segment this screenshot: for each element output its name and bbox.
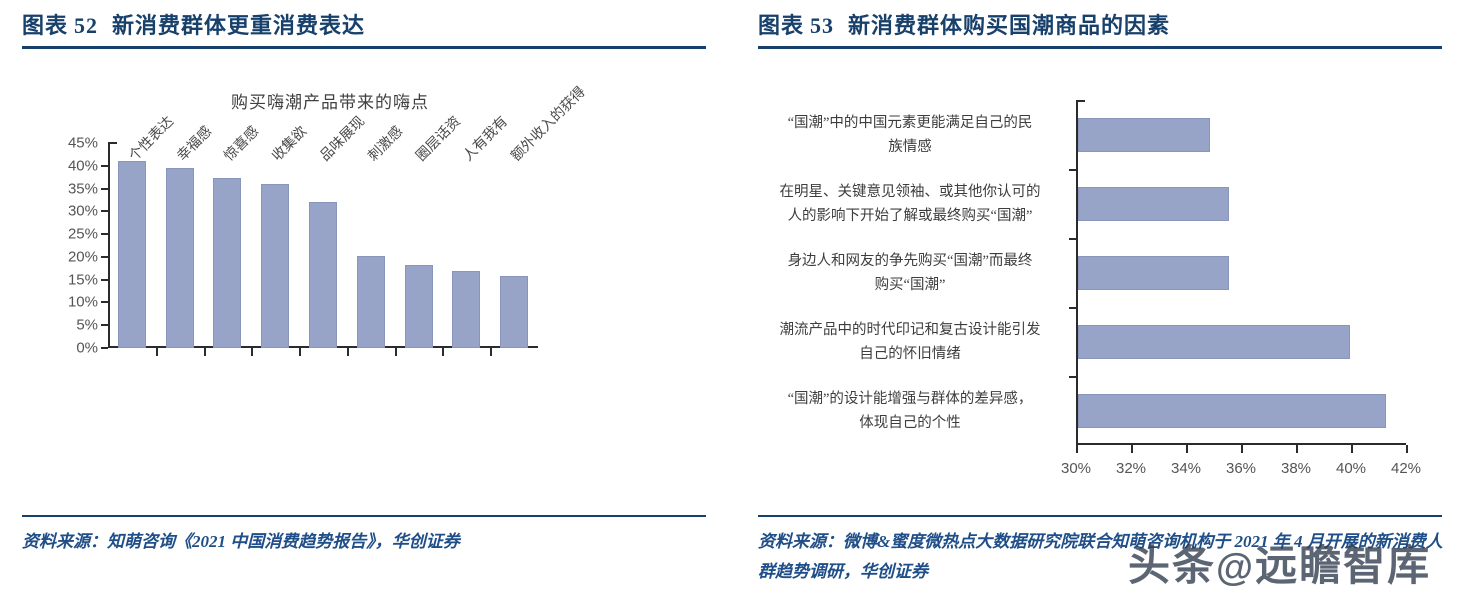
bar-row-4 bbox=[1078, 325, 1350, 359]
x-axis-tick-label-right: 30% bbox=[1061, 460, 1091, 477]
x-tick-mark-right bbox=[1131, 445, 1133, 453]
y-axis-tick-label: 5% bbox=[76, 317, 98, 334]
x-tick-mark bbox=[490, 348, 492, 356]
x-tick-mark-right bbox=[1076, 445, 1078, 453]
y-tick-mark bbox=[101, 165, 108, 167]
x-label-3: 惊喜感 bbox=[219, 121, 263, 165]
y-axis-line bbox=[108, 143, 110, 348]
bar-row-1 bbox=[1078, 118, 1210, 152]
y-tick-mark bbox=[101, 210, 108, 212]
y-axis-tick-label: 45% bbox=[68, 135, 98, 152]
figure-53-title-text: 新消费群体购买国潮商品的因素 bbox=[848, 13, 1170, 38]
y-axis-tick-label: 10% bbox=[68, 294, 98, 311]
y-tick-mark-right bbox=[1069, 238, 1076, 240]
x-axis-tick-label-right: 34% bbox=[1171, 460, 1201, 477]
category-label-3: 身边人和网友的争先购买“国潮”而最终购买“国潮” bbox=[760, 249, 1060, 297]
y-tick-mark bbox=[108, 142, 117, 144]
figure-52-title-line: 图表52新消费群体更重消费表达 bbox=[22, 8, 706, 40]
figure-52-number: 52 bbox=[74, 13, 98, 38]
category-label-4: 潮流产品中的时代印记和复古设计能引发自己的怀旧情绪 bbox=[760, 318, 1060, 366]
category-label-line: 体现自己的个性 bbox=[760, 411, 1060, 435]
x-label-2: 幸福感 bbox=[172, 121, 216, 165]
bar-8 bbox=[452, 271, 480, 348]
x-tick-mark-right bbox=[1296, 445, 1298, 453]
x-tick-mark-right bbox=[1186, 445, 1188, 453]
bar-1 bbox=[118, 161, 146, 348]
y-axis-cap-right bbox=[1076, 100, 1085, 102]
category-label-line: 购买“国潮” bbox=[760, 273, 1060, 297]
x-tick-mark bbox=[251, 348, 253, 356]
figure-52-source: 资料来源：知萌咨询《2021 中国消费趋势报告》，华创证券 bbox=[22, 527, 722, 557]
y-axis-tick-label: 40% bbox=[68, 157, 98, 174]
bar-row-3 bbox=[1078, 256, 1229, 290]
figure-53-rule bbox=[758, 46, 1442, 49]
figure-53-label: 图表 bbox=[758, 13, 804, 38]
y-axis-tick-label: 0% bbox=[76, 340, 98, 357]
figure-panel-53: 图表53新消费群体购买国潮商品的因素 “国潮”中的中国元素更能满足自己的民族情感… bbox=[736, 0, 1462, 594]
bar-6 bbox=[357, 256, 385, 348]
category-label-line: 人的影响下开始了解或最终购买“国潮” bbox=[760, 204, 1060, 228]
x-axis-tick-label-right: 38% bbox=[1281, 460, 1311, 477]
x-label-4: 收集欲 bbox=[267, 121, 311, 165]
y-axis-tick-label: 30% bbox=[68, 203, 98, 220]
category-label-line: “国潮”中的中国元素更能满足自己的民 bbox=[760, 111, 1060, 135]
x-tick-mark-right bbox=[1406, 445, 1408, 453]
x-tick-mark bbox=[395, 348, 397, 356]
y-tick-mark-right bbox=[1069, 307, 1076, 309]
bar-chart-guochao-factors: “国潮”中的中国元素更能满足自己的民族情感在明星、关键意见领袖、或其他你认可的人… bbox=[736, 80, 1462, 500]
y-tick-mark bbox=[101, 347, 108, 349]
plot-area-right: “国潮”中的中国元素更能满足自己的民族情感在明星、关键意见领袖、或其他你认可的人… bbox=[1076, 100, 1406, 445]
figure-52-header: 图表52新消费群体更重消费表达 bbox=[22, 8, 706, 49]
plot-area-left: 0%5%10%15%20%25%30%35%40%45% 个性表达幸福感惊喜感收… bbox=[108, 143, 538, 348]
category-label-line: 身边人和网友的争先购买“国潮”而最终 bbox=[760, 249, 1060, 273]
y-tick-mark bbox=[101, 324, 108, 326]
y-tick-mark bbox=[101, 301, 108, 303]
x-axis-tick-label-right: 36% bbox=[1226, 460, 1256, 477]
figure-52-source-rule bbox=[22, 515, 706, 517]
x-label-8: 人有我有 bbox=[458, 111, 512, 165]
x-label-5: 品味展现 bbox=[315, 111, 369, 165]
y-axis-tick-label: 20% bbox=[68, 248, 98, 265]
x-label-1: 个性表达 bbox=[124, 111, 178, 165]
figure-panel-52: 图表52新消费群体更重消费表达 购买嗨潮产品带来的嗨点 0%5%10%15%20… bbox=[0, 0, 726, 594]
x-tick-mark bbox=[204, 348, 206, 356]
y-axis-tick-label: 25% bbox=[68, 226, 98, 243]
category-label-line: 自己的怀旧情绪 bbox=[760, 342, 1060, 366]
figure-53-number: 53 bbox=[810, 13, 834, 38]
category-label-5: “国潮”的设计能增强与群体的差异感，体现自己的个性 bbox=[760, 387, 1060, 435]
figure-52-title-text: 新消费群体更重消费表达 bbox=[112, 13, 365, 38]
y-axis-tick-label: 15% bbox=[68, 271, 98, 288]
figure-53-source: 资料来源：微博&蜜度微热点大数据研究院联合知萌咨询机构于 2021 年 4 月开… bbox=[758, 527, 1458, 587]
bar-row-5 bbox=[1078, 394, 1386, 428]
category-label-2: 在明星、关键意见领袖、或其他你认可的人的影响下开始了解或最终购买“国潮” bbox=[760, 180, 1060, 228]
figure-52-rule bbox=[22, 46, 706, 49]
y-axis-tick-label: 35% bbox=[68, 180, 98, 197]
y-tick-mark-right bbox=[1069, 376, 1076, 378]
x-tick-mark bbox=[299, 348, 301, 356]
figure-53-title-line: 图表53新消费群体购买国潮商品的因素 bbox=[758, 8, 1442, 40]
y-tick-mark bbox=[101, 256, 108, 258]
category-label-1: “国潮”中的中国元素更能满足自己的民族情感 bbox=[760, 111, 1060, 159]
x-label-6: 刺激感 bbox=[363, 121, 407, 165]
bar-9 bbox=[500, 276, 528, 348]
bar-row-2 bbox=[1078, 187, 1229, 221]
x-tick-mark-right bbox=[1351, 445, 1353, 453]
category-label-line: 潮流产品中的时代印记和复古设计能引发 bbox=[760, 318, 1060, 342]
figure-53-source-rule bbox=[758, 515, 1442, 517]
x-tick-mark-right bbox=[1241, 445, 1243, 453]
y-tick-mark bbox=[101, 279, 108, 281]
bar-3 bbox=[213, 178, 241, 348]
x-axis-tick-label-right: 40% bbox=[1336, 460, 1366, 477]
figure-52-label: 图表 bbox=[22, 13, 68, 38]
bar-4 bbox=[261, 184, 289, 348]
column-chart-consumption-expression: 购买嗨潮产品带来的嗨点 0%5%10%15%20%25%30%35%40%45%… bbox=[0, 70, 726, 500]
y-tick-mark-right bbox=[1069, 169, 1076, 171]
y-tick-mark bbox=[101, 188, 108, 190]
x-axis-tick-label-right: 32% bbox=[1116, 460, 1146, 477]
bar-5 bbox=[309, 202, 337, 348]
bar-2 bbox=[166, 168, 194, 348]
category-label-line: “国潮”的设计能增强与群体的差异感， bbox=[760, 387, 1060, 411]
category-label-line: 族情感 bbox=[760, 135, 1060, 159]
x-label-7: 圈层话资 bbox=[411, 111, 465, 165]
category-label-line: 在明星、关键意见领袖、或其他你认可的 bbox=[760, 180, 1060, 204]
figure-53-header: 图表53新消费群体购买国潮商品的因素 bbox=[758, 8, 1442, 49]
x-tick-mark bbox=[442, 348, 444, 356]
x-axis-tick-label-right: 42% bbox=[1391, 460, 1421, 477]
bar-7 bbox=[405, 265, 433, 348]
x-tick-mark bbox=[156, 348, 158, 356]
y-tick-mark bbox=[101, 233, 108, 235]
slide-page: 图表52新消费群体更重消费表达 购买嗨潮产品带来的嗨点 0%5%10%15%20… bbox=[0, 0, 1462, 594]
x-tick-mark bbox=[347, 348, 349, 356]
